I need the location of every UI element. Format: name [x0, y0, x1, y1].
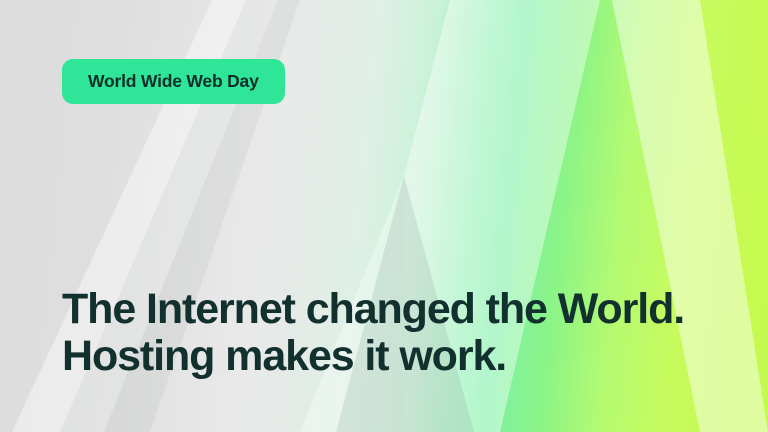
badge-label: World Wide Web Day — [88, 73, 259, 91]
world-wide-web-day-banner: World Wide Web Day The Internet changed … — [0, 0, 768, 432]
headline-line-2: Hosting makes it work. — [62, 333, 742, 380]
headline-line-1: The Internet changed the World. — [62, 286, 742, 333]
world-wide-web-day-badge[interactable]: World Wide Web Day — [62, 59, 285, 104]
headline: The Internet changed the World. Hosting … — [62, 286, 742, 380]
